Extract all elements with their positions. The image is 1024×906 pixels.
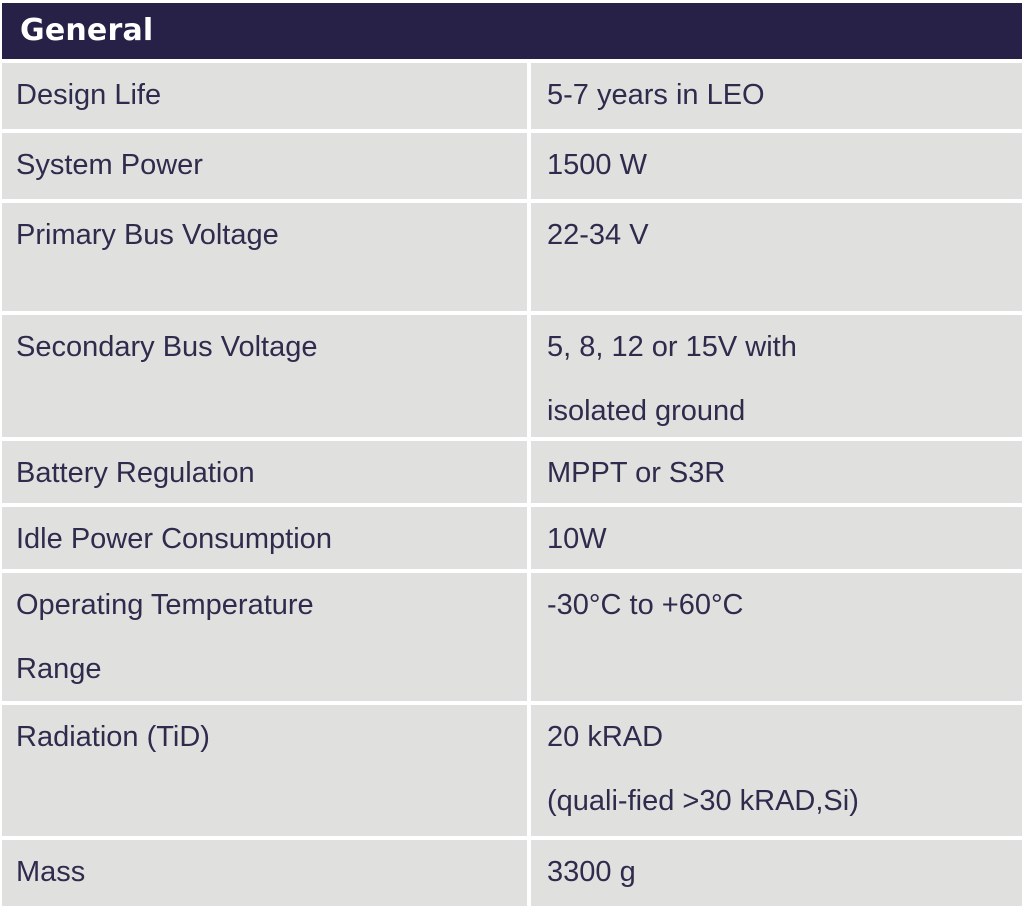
row-label-mass: Mass — [2, 840, 527, 906]
row-label-idle-power-consumption: Idle Power Consumption — [2, 507, 527, 569]
value-text: 1500 W — [547, 133, 1022, 197]
table-row: Operating Temperature Range -30°C to +60… — [2, 573, 1022, 701]
row-value-radiation-tid: 20 kRAD (quali-fied >30 kRAD,Si) — [531, 705, 1022, 836]
row-label-radiation-tid: Radiation (TiD) — [2, 705, 527, 836]
label-text-line-1: Operating Temperature — [16, 573, 527, 637]
row-label-primary-bus-voltage: Primary Bus Voltage — [2, 203, 527, 311]
table-header-title: General — [20, 16, 153, 46]
row-label-operating-temperature-range: Operating Temperature Range — [2, 573, 527, 701]
value-text: 22-34 V — [547, 203, 1022, 267]
row-value-idle-power-consumption: 10W — [531, 507, 1022, 569]
general-specifications-table: General Design Life 5-7 years in LEO Sys… — [0, 3, 1024, 906]
value-text: 10W — [547, 507, 1022, 569]
row-label-system-power: System Power — [2, 133, 527, 199]
row-label-design-life: Design Life — [2, 63, 527, 129]
label-text: Battery Regulation — [16, 441, 527, 503]
row-value-system-power: 1500 W — [531, 133, 1022, 199]
row-value-design-life: 5-7 years in LEO — [531, 63, 1022, 129]
table-row: Mass 3300 g — [2, 840, 1022, 906]
value-text-line-1: 20 kRAD — [547, 705, 1022, 769]
row-value-battery-regulation: MPPT or S3R — [531, 441, 1022, 503]
table-row: Design Life 5-7 years in LEO — [2, 63, 1022, 129]
row-value-operating-temperature-range: -30°C to +60°C — [531, 573, 1022, 701]
label-text: Primary Bus Voltage — [16, 203, 527, 267]
row-value-primary-bus-voltage: 22-34 V — [531, 203, 1022, 311]
value-text: 5-7 years in LEO — [547, 63, 1022, 127]
label-text: Secondary Bus Voltage — [16, 315, 527, 379]
value-text-line-2: (quali-fied >30 kRAD,Si) — [547, 769, 1022, 833]
label-text: System Power — [16, 133, 527, 197]
label-text: Radiation (TiD) — [16, 705, 527, 769]
value-text-line-2: isolated ground — [547, 379, 1022, 437]
row-label-battery-regulation: Battery Regulation — [2, 441, 527, 503]
table-row: Primary Bus Voltage 22-34 V — [2, 203, 1022, 311]
row-value-secondary-bus-voltage: 5, 8, 12 or 15V with isolated ground — [531, 315, 1022, 437]
row-label-secondary-bus-voltage: Secondary Bus Voltage — [2, 315, 527, 437]
value-text-line-1: 5, 8, 12 or 15V with — [547, 315, 1022, 379]
table-row: Secondary Bus Voltage 5, 8, 12 or 15V wi… — [2, 315, 1022, 437]
label-text: Mass — [16, 840, 527, 904]
table-header: General — [2, 3, 1022, 59]
table-row: System Power 1500 W — [2, 133, 1022, 199]
row-value-mass: 3300 g — [531, 840, 1022, 906]
value-text: -30°C to +60°C — [547, 573, 1022, 637]
table-row: Radiation (TiD) 20 kRAD (quali-fied >30 … — [2, 705, 1022, 836]
label-text: Idle Power Consumption — [16, 507, 527, 569]
value-text: 3300 g — [547, 840, 1022, 904]
value-text: MPPT or S3R — [547, 441, 1022, 503]
table-row: Battery Regulation MPPT or S3R — [2, 441, 1022, 503]
table-row: Idle Power Consumption 10W — [2, 507, 1022, 569]
label-text-line-2: Range — [16, 637, 527, 701]
label-text: Design Life — [16, 63, 527, 127]
